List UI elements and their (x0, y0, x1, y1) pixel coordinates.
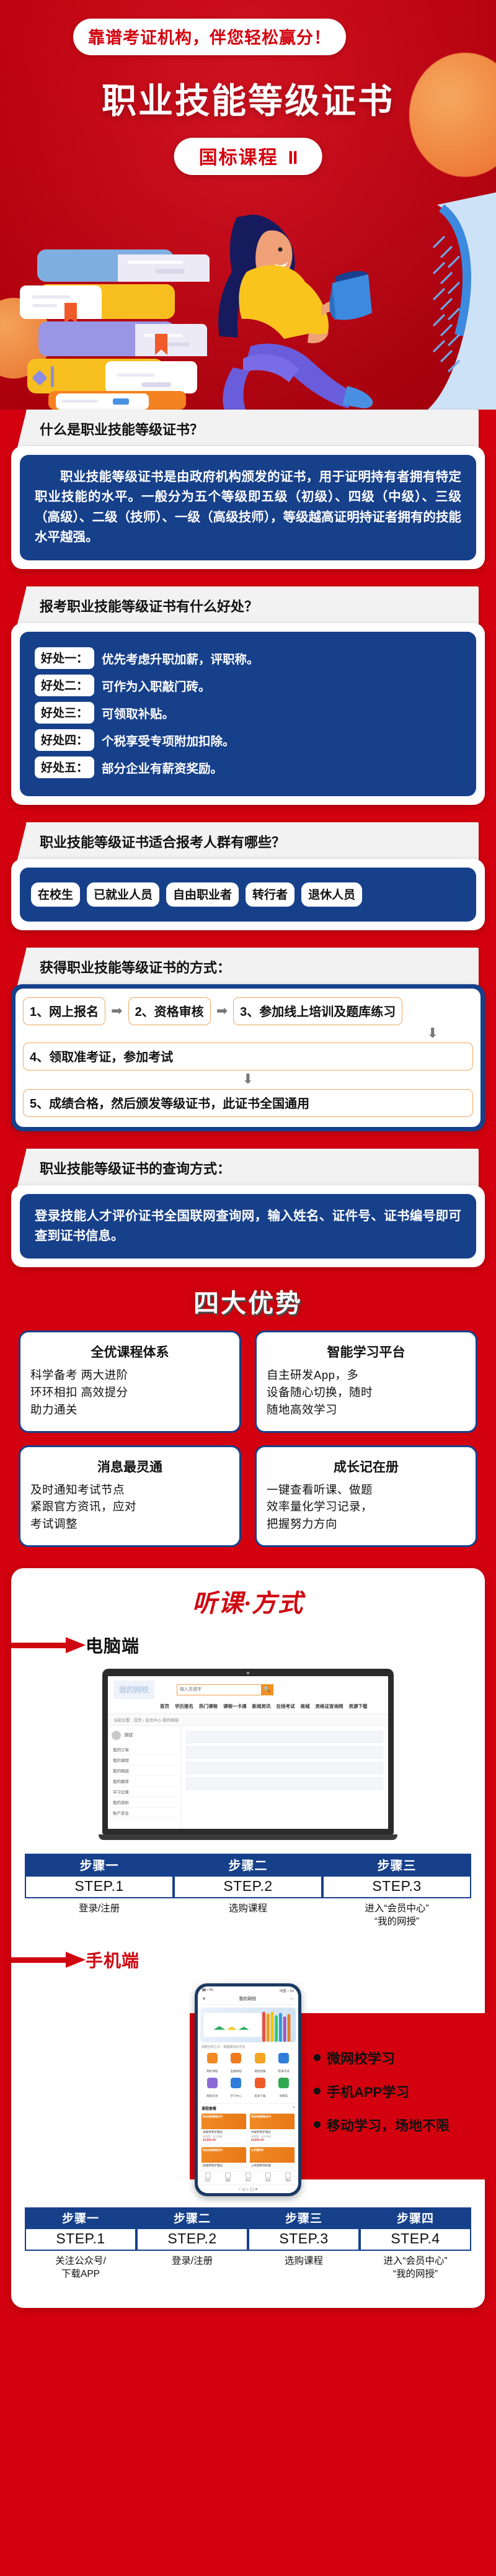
bullet-dot-icon (314, 2054, 321, 2061)
nav-item[interactable]: 学历报名 (175, 1703, 193, 1710)
tab-course[interactable]: 课程 (218, 2173, 237, 2183)
nav-item[interactable]: 资格证查询网 (316, 1703, 343, 1710)
audience-chip: 自由职业者 (166, 882, 239, 907)
course-thumb: 职业技能等级证书 (201, 2147, 246, 2163)
sidebar-item[interactable]: 我的订单 (112, 1744, 177, 1755)
section-benefits: 报考职业技能等级证书有什么好处？ 好处一： 优先考虑升职加薪，评职称。 好处二：… (0, 586, 496, 805)
mobile-label: 手机端 (86, 1947, 139, 1972)
close-icon[interactable]: ✕ (202, 1996, 206, 2001)
app-grid-item[interactable]: 网校名师 (200, 2078, 224, 2100)
exam-icon (246, 2173, 251, 2178)
app-icon-grid[interactable]: 网校课程 直播课程 课程套餐 稳拿考试 网校名师 学习中心 资源下载 购物车 (198, 2051, 298, 2103)
benefit-tag: 好处四： (35, 729, 94, 751)
advantage-card: 全优课程体系 科学备考 两大进阶 环环相扣 高效提分 助力通关 (19, 1331, 241, 1432)
app-title: 我的网校 (239, 1996, 256, 2002)
sidebar-item[interactable]: 我的题库 (112, 1776, 177, 1787)
hero-ribbon: 靠谱考证机构，伴您轻松赢分！ (73, 19, 346, 55)
app-grid-label: 网校名师 (206, 2094, 218, 2098)
webcam-icon (247, 1672, 249, 1674)
arrow-right-icon (11, 1637, 86, 1653)
method-title: 听课·方式 (11, 1579, 485, 1629)
advantage-title: 全优课程体系 (30, 1342, 229, 1361)
app-grid-label: 课程套餐 (254, 2070, 265, 2073)
bullet-dot-icon (314, 2121, 321, 2128)
download-icon (255, 2078, 265, 2088)
benefit-list: 好处一： 优先考虑升职加薪，评职称。 好处二： 可作为入职敲门砖。 好处三： 可… (20, 632, 476, 796)
flow-panel: 1、网上报名 ➡ 2、资格审核 ➡ 3、参加线上培训及题库练习 ⬇ 4、领取准考… (11, 984, 485, 1131)
section-what-is: 什么是职业技能等级证书？ 职业技能等级证书是由政府机构颁发的证书，用于证明持有者… (0, 410, 496, 569)
content-placeholder (186, 1777, 383, 1790)
section-body: 职业技能等级证书是由政府机构颁发的证书，用于证明持有者拥有特定职业技能的水平。一… (11, 446, 485, 569)
flow-row-1: 1、网上报名 ➡ 2、资格审核 ➡ 3、参加线上培训及题库练习 (23, 997, 473, 1025)
course-card[interactable]: 公共营养师 公共营养师四级 (249, 2147, 295, 2168)
app-grid-label: 购物车 (280, 2094, 288, 2098)
course-badge: 职业技能等级证书 (251, 2115, 271, 2119)
advantage-desc: 科学备考 两大进阶 环环相扣 高效提分 助力通关 (30, 1367, 229, 1418)
banner-art (200, 2008, 296, 2042)
nav-item[interactable]: 热门课程 (199, 1703, 218, 1710)
status-left: ▮▮ ▪ 4G (202, 1988, 213, 1993)
nav-item[interactable]: 新闻资讯 (252, 1703, 271, 1710)
nav-item[interactable]: 商城 (301, 1703, 310, 1710)
step-code: STEP.1 (25, 1877, 174, 1898)
benefit-tag: 好处三： (35, 702, 94, 724)
flow-inner: 1、网上报名 ➡ 2、资格审核 ➡ 3、参加线上培训及题库练习 ⬇ 4、领取准考… (15, 989, 480, 1127)
banner-caption: 放眼全局之长，掌握眼前的灵活 (198, 2045, 298, 2051)
app-grid-label: 资源下载 (254, 2094, 265, 2098)
step-code: STEP.4 (360, 2229, 471, 2251)
advantage-card: 消息最灵通 及时通知考试节点 紧跟官方资讯，应对 考试调整 (19, 1445, 241, 1547)
app-grid-label: 学习中心 (231, 2094, 242, 2098)
advantage-card: 成长记在册 一键查看听课、做题 效率量化学习记录， 把握努力方向 (255, 1445, 477, 1547)
audience-chip: 转行者 (246, 882, 294, 907)
bullet-dot-icon (314, 2088, 321, 2094)
app-titlebar: ✕ 我的网校 ⋯ (198, 1994, 298, 2005)
advantage-title: 成长记在册 (267, 1457, 466, 1476)
section-body: 在校生 已就业人员 自由职业者 转行者 退休人员 (11, 859, 485, 930)
course-name: 高级养老护理员 (201, 2129, 246, 2134)
course-thumb: 公共营养师 (250, 2147, 294, 2163)
section-audience: 职业技能等级证书适合报考人群有哪些？ 在校生 已就业人员 自由职业者 转行者 退… (0, 822, 496, 930)
step-item: 步骤二 STEP.2 选购课程 (174, 1854, 322, 1929)
flow-step-3: 3、参加线上培训及题库练习 (233, 997, 402, 1025)
laptop-base (99, 1834, 397, 1840)
step-label: 步骤四 (360, 2207, 471, 2229)
section-body: 登录技能人才评价证书全国联网查询网，输入姓名、证件号、证书编号即可查到证书信息。 (11, 1185, 485, 1268)
bullet-text: 移动学习，场地不限 (327, 2115, 449, 2135)
app-grid-item[interactable]: 直播课程 (224, 2053, 249, 2075)
bullet-text: 微网校学习 (327, 2048, 395, 2068)
flow-row-3: 5、成绩合格，然后颁发等级证书，此证书全国通用 (23, 1089, 473, 1117)
step-item: 步骤一 STEP.1 登录/注册 (25, 1854, 174, 1929)
step-caption: 关注公众号/ 下载APP (25, 2251, 136, 2281)
tab-label: 课程 (225, 2179, 231, 2182)
nav-item[interactable]: 课程一卡通 (223, 1703, 247, 1710)
step-caption: 进入“会员中心” “我的网授” (322, 1898, 471, 1929)
section-listening-method: 听课·方式 电脑端 我的网校 🔍 (11, 1568, 485, 2309)
course-price: ¥1300.00 (250, 2138, 294, 2143)
hero-section: 靠谱考证机构，伴您轻松赢分！ 职业技能等级证书 国标课程II (0, 0, 496, 410)
what-is-paragraph: 职业技能等级证书是由政府机构颁发的证书，用于证明持有者拥有特定职业技能的水平。一… (35, 467, 461, 548)
step-code: STEP.1 (25, 2229, 136, 2251)
laptop-mockup: 我的网校 🔍 首页 学历报名 热门课程 课程一卡通 新闻资讯 在线考试 商城 (102, 1669, 394, 1840)
tab-home[interactable]: 首页 (198, 2173, 218, 2183)
laptop-screen: 我的网校 🔍 首页 学历报名 热门课程 课程一卡通 新闻资讯 在线考试 商城 (102, 1669, 394, 1834)
search-icon[interactable]: 🔍 (261, 1684, 273, 1695)
course-price: ¥1300.00 (201, 2138, 246, 2143)
site-search[interactable]: 🔍 (177, 1684, 273, 1695)
benefit-text: 可领取补贴。 (102, 704, 174, 722)
user-block: 测试 (112, 1731, 177, 1740)
sidebar-item[interactable]: 我的课程 (112, 1755, 177, 1766)
flow-step-1: 1、网上报名 (23, 997, 105, 1025)
course-badge: 职业技能等级证书 (203, 2115, 223, 2119)
arrow-right-icon: ➡ (216, 1004, 228, 1018)
nav-item[interactable]: 首页 (160, 1703, 169, 1710)
pc-label: 电脑端 (86, 1633, 139, 1658)
course-badge: 职业技能等级证书 (203, 2148, 223, 2152)
content-placeholder (186, 1731, 383, 1743)
course-name: 中级养老护理员 (250, 2129, 294, 2134)
step-label: 步骤一 (25, 2207, 136, 2229)
exam-icon (278, 2053, 289, 2063)
news-icon (265, 2173, 271, 2178)
flow-row-2: 4、领取准考证，参加考试 (23, 1043, 473, 1070)
audience-chip-list: 在校生 已就业人员 自由职业者 转行者 退休人员 (29, 873, 467, 917)
audience-chip: 已就业人员 (87, 882, 159, 907)
chevron-right-icon[interactable]: › (293, 2106, 294, 2111)
search-input[interactable] (177, 1684, 261, 1695)
info-panel: 职业技能等级证书是由政府机构颁发的证书，用于证明持有者拥有特定职业技能的水平。一… (20, 455, 476, 560)
site-header: 我的网校 🔍 (108, 1676, 388, 1702)
advantage-desc: 一键查看听课、做题 效率量化学习记录， 把握努力方向 (267, 1481, 466, 1533)
step-caption: 选购课程 (248, 2251, 360, 2268)
course-name: 公共营养师四级 (250, 2163, 294, 2168)
step-label: 步骤二 (174, 1854, 322, 1877)
app-grid-item[interactable]: 购物车 (272, 2078, 296, 2100)
arrow-right-icon (11, 1952, 86, 1968)
audience-panel: 在校生 已就业人员 自由职业者 转行者 退休人员 (20, 868, 476, 922)
advantage-title: 消息最灵通 (30, 1457, 229, 1476)
step-label: 步骤二 (136, 2207, 248, 2229)
content-area (181, 1726, 388, 1829)
home-icon (205, 2173, 211, 2178)
step-code: STEP.3 (322, 1877, 471, 1898)
hero-badge-roman: II (288, 148, 298, 168)
course-meta: 有效期：永久有效 (250, 2134, 294, 2138)
benefit-text: 可作为入职敲门砖。 (102, 676, 211, 694)
promo-poster: 靠谱考证机构，伴您轻松赢分！ 职业技能等级证书 国标课程II (0, 0, 496, 2576)
step-item: 步骤三 STEP.3 选购课程 (248, 2207, 360, 2281)
step-caption: 进入“会员中心” “我的网授” (360, 2251, 471, 2281)
app-grid-item[interactable]: 稳拿考试 (272, 2053, 296, 2075)
avatar (112, 1731, 121, 1740)
browser-viewport: 我的网校 🔍 首页 学历报名 热门课程 课程一卡通 新闻资讯 在线考试 商城 (108, 1676, 388, 1829)
phone-screen: ▮▮ ▪ 4G 中国 ⌁ 53 ✕ 我的网校 ⋯ (198, 1986, 298, 2193)
audience-chip: 退休人员 (301, 882, 362, 907)
step-item: 步骤四 STEP.4 进入“会员中心” “我的网授” (360, 2207, 471, 2281)
step-item: 步骤一 STEP.1 关注公众号/ 下载APP (25, 2207, 136, 2281)
section-title: 课程套餐 (201, 2106, 216, 2111)
tab-label: 首页 (205, 2179, 211, 2182)
course-card-list[interactable]: 职业技能等级证书 高级养老护理员 有效期：永久有效 ¥1300.00 职业技能等… (198, 2113, 298, 2171)
mobile-bullet-list: 微网校学习 手机APP学习 移动学习，场地不限 (314, 2048, 449, 2148)
reading-illustration-svg (0, 180, 496, 410)
panel-footer-space (11, 2283, 485, 2292)
course-meta: 有效期：永久有效 (201, 2134, 246, 2138)
step-code: STEP.2 (174, 1877, 322, 1898)
advantages-title: 四大优势 (0, 1267, 496, 1331)
content-placeholder (186, 1746, 383, 1759)
advantage-desc: 自主研发App，多 设备随心切换，随时 随地高效学习 (267, 1367, 466, 1418)
step-item: 步骤三 STEP.3 进入“会员中心” “我的网授” (322, 1854, 471, 1929)
benefit-text: 部分企业有薪资奖励。 (102, 758, 223, 776)
user-icon (285, 2173, 291, 2178)
benefit-row: 好处五： 部分企业有薪资奖励。 (35, 756, 461, 778)
benefit-text: 个税享受专项附加扣除。 (102, 731, 235, 749)
section-how-to-obtain: 获得职业技能等级证书的方式： 1、网上报名 ➡ 2、资格审核 ➡ 3、参加线上培… (0, 948, 496, 1131)
tab-label: 资讯 (265, 2179, 271, 2182)
sidebar-item[interactable]: 我的网授 (112, 1766, 177, 1776)
app-grid-label: 稳拿考试 (278, 2070, 290, 2073)
tab-mine[interactable]: 我的 (278, 2173, 298, 2183)
sidebar-item[interactable]: 我的资料 (112, 1797, 177, 1808)
more-icon[interactable]: ⋯ (290, 1996, 294, 2001)
phone-statusbar: ▮▮ ▪ 4G 中国 ⌁ 53 (198, 1986, 298, 1994)
user-name: 测试 (124, 1732, 133, 1738)
nav-item[interactable]: 在线考试 (277, 1703, 295, 1710)
sidebar-item[interactable]: 学习记录 (112, 1787, 177, 1797)
advantage-title: 智能学习平台 (267, 1342, 466, 1361)
cart-icon (278, 2078, 289, 2088)
app-grid-item[interactable]: 资源下载 (248, 2078, 272, 2100)
pc-steps: 步骤一 STEP.1 登录/注册 步骤二 STEP.2 选购课程 步骤三 STE… (11, 1842, 485, 1931)
tab-label: 我的 (285, 2179, 291, 2182)
audience-chip: 在校生 (31, 882, 80, 907)
step-code: STEP.3 (248, 2229, 360, 2251)
bullet-item: 手机APP学习 (314, 2081, 449, 2101)
tab-exam[interactable]: 考试 (238, 2173, 258, 2183)
step-item: 步骤二 STEP.2 登录/注册 (136, 2207, 248, 2281)
site-nav[interactable]: 首页 学历报名 热门课程 课程一卡通 新闻资讯 在线考试 商城 资格证查询网 资… (108, 1702, 388, 1713)
teacher-icon (207, 2078, 218, 2088)
benefit-tag: 好处五： (35, 756, 94, 778)
app-grid-item[interactable]: 学习中心 (224, 2078, 249, 2100)
step-code: STEP.2 (136, 2229, 248, 2251)
bullet-item: 微网校学习 (314, 2048, 449, 2068)
status-right: 中国 ⌁ 53 (280, 1988, 294, 1993)
course-icon (225, 2173, 231, 2178)
app-tabbar[interactable]: 首页 课程 考试 资讯 我的 (198, 2171, 298, 2184)
bullet-item: 移动学习，场地不限 (314, 2115, 449, 2135)
course-thumb: 职业技能等级证书 (250, 2114, 294, 2129)
flow-step-5: 5、成绩合格，然后颁发等级证书，此证书全国通用 (23, 1089, 473, 1117)
app-grid-label: 直播课程 (231, 2070, 242, 2073)
hero-badge-label: 国标课程 (199, 148, 278, 168)
course-name: 初级养老护理员 (201, 2163, 246, 2168)
hero-illustration (0, 180, 496, 410)
benefit-row: 好处二： 可作为入职敲门砖。 (35, 675, 461, 696)
benefit-row: 好处四： 个税享受专项附加扣除。 (35, 729, 461, 751)
pc-label-row: 电脑端 (11, 1633, 485, 1658)
course-card[interactable]: 职业技能等级证书 中级养老护理员 有效期：永久有效 ¥1300.00 (249, 2113, 295, 2144)
course-badge: 公共营养师 (251, 2148, 263, 2152)
sidebar-list[interactable]: 我的订单 我的课程 我的网授 我的题库 学习记录 我的资料 账户安全 (112, 1744, 177, 1818)
site-main: 测试 我的订单 我的课程 我的网授 我的题库 学习记录 我的资料 账户安全 (108, 1725, 388, 1829)
step-caption: 登录/注册 (136, 2251, 248, 2268)
star-icon (255, 2053, 265, 2063)
site-logo: 我的网校 (113, 1681, 154, 1699)
step-caption: 选购课程 (174, 1898, 322, 1916)
flow-step-4: 4、领取准考证，参加考试 (23, 1043, 473, 1070)
study-center-icon (231, 2078, 241, 2088)
query-paragraph: 登录技能人才评价证书全国联网查询网，输入姓名、证件号、证书编号即可查到证书信息。 (35, 1206, 461, 1247)
benefit-tag: 好处一： (35, 647, 94, 669)
step-label: 步骤一 (25, 1854, 174, 1877)
breadcrumb: 当前位置：首页 › 会员中心 我的网授 (108, 1713, 388, 1725)
app-grid-item[interactable]: 网校课程 (200, 2053, 224, 2075)
step-caption: 登录/注册 (25, 1898, 174, 1916)
page-title: 职业技能等级证书 (0, 73, 496, 123)
app-grid-label: 网校课程 (206, 2070, 218, 2073)
course-card[interactable]: 职业技能等级证书 高级养老护理员 有效期：永久有效 ¥1300.00 (201, 2113, 247, 2144)
phone-mockup: ▮▮ ▪ 4G 中国 ⌁ 53 ✕ 我的网校 ⋯ (195, 1983, 301, 2196)
query-panel: 登录技能人才评价证书全国联网查询网，输入姓名、证件号、证书编号即可查到证书信息。 (20, 1194, 476, 1259)
benefit-text: 优先考虑升职加薪，评职称。 (102, 649, 259, 667)
step-label: 步骤三 (248, 2207, 360, 2229)
section-query-method: 职业技能等级证书的查询方式： 登录技能人才评价证书全国联网查询网，输入姓名、证件… (0, 1149, 496, 1268)
arrow-down-icon: ⬇ (23, 1025, 473, 1041)
app-grid-item[interactable]: 课程套餐 (248, 2053, 272, 2075)
course-thumb: 职业技能等级证书 (201, 2114, 246, 2129)
video-icon (231, 2053, 241, 2063)
mobile-steps: 步骤一 STEP.1 关注公众号/ 下载APP 步骤二 STEP.2 登录/注册… (11, 2196, 485, 2284)
arrow-right-icon: ➡ (111, 1004, 122, 1018)
benefit-row: 好处三： 可领取补贴。 (35, 702, 461, 724)
app-banner[interactable] (200, 2008, 296, 2042)
step-label: 步骤三 (322, 1854, 471, 1877)
hero-badge: 国标课程II (174, 138, 322, 175)
course-card[interactable]: 职业技能等级证书 初级养老护理员 (201, 2147, 247, 2168)
system-navbar[interactable]: ◦ ◁ ○ ▢ ≡ (198, 2184, 298, 2193)
section-advantages: 四大优势 全优课程体系 科学备考 两大进阶 环环相扣 高效提分 助力通关 智能学… (0, 1267, 496, 1563)
flow-step-2: 2、资格审核 (128, 997, 211, 1025)
arrow-down-icon: ⬇ (23, 1070, 473, 1088)
benefit-tag: 好处二： (35, 675, 94, 696)
app-section-header: 课程套餐 › (198, 2103, 298, 2113)
nav-item[interactable]: 资源下载 (349, 1703, 368, 1710)
section-body: 好处一： 优先考虑升职加薪，评职称。 好处二： 可作为入职敲门砖。 好处三： 可… (11, 623, 485, 805)
advantages-grid: 全优课程体系 科学备考 两大进阶 环环相扣 高效提分 助力通关 智能学习平台 自… (0, 1331, 496, 1563)
tab-label: 考试 (246, 2179, 251, 2182)
mobile-label-row: 手机端 (11, 1947, 485, 1972)
book-icon (207, 2053, 218, 2063)
tab-news[interactable]: 资讯 (258, 2173, 278, 2183)
sidebar-item[interactable]: 账户安全 (112, 1808, 177, 1818)
content-placeholder (186, 1762, 383, 1774)
benefit-row: 好处一： 优先考虑升职加薪，评职称。 (35, 647, 461, 669)
member-sidebar: 测试 我的订单 我的课程 我的网授 我的题库 学习记录 我的资料 账户安全 (108, 1726, 181, 1829)
advantage-card: 智能学习平台 自主研发App，多 设备随心切换，随时 随地高效学习 (255, 1331, 477, 1432)
mobile-showcase: ▮▮ ▪ 4G 中国 ⌁ 53 ✕ 我的网校 ⋯ (11, 1975, 485, 2196)
bullet-text: 手机APP学习 (327, 2081, 409, 2101)
advantage-desc: 及时通知考试节点 紧跟官方资讯，应对 考试调整 (30, 1481, 229, 1533)
